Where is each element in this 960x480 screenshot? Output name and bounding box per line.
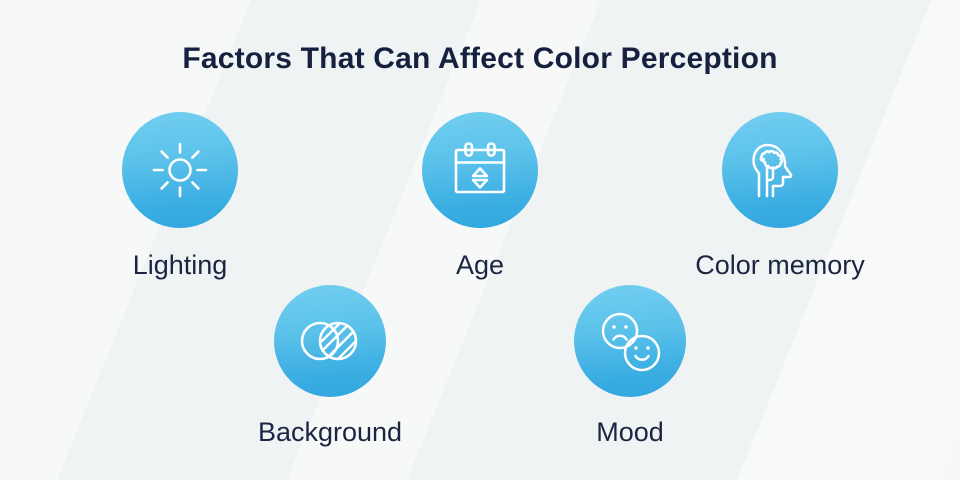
factor-label-background: Background: [258, 417, 402, 448]
factor-badge-lighting: [122, 112, 238, 228]
factor-badge-age: [422, 112, 538, 228]
factor-label-lighting: Lighting: [133, 250, 228, 281]
factor-item-age[interactable]: Age: [330, 112, 630, 281]
factor-item-color-memory[interactable]: Color memory: [630, 112, 930, 281]
factor-item-background[interactable]: Background: [180, 285, 480, 448]
head-brain-icon: [749, 139, 811, 201]
factor-badge-mood: [574, 285, 686, 397]
factor-label-mood: Mood: [596, 417, 664, 448]
factor-badge-color-memory: [722, 112, 838, 228]
factor-row-bottom: Background: [0, 285, 960, 448]
factor-label-age: Age: [456, 250, 504, 281]
factor-row-top: Lighting: [0, 112, 960, 281]
sun-icon: [150, 140, 210, 200]
calendar-stepper-icon: [449, 140, 511, 200]
factor-badge-background: [274, 285, 386, 397]
page-title: Factors That Can Affect Color Perception: [0, 42, 960, 76]
overlapping-circles-icon: [298, 315, 362, 367]
factor-label-color-memory: Color memory: [695, 250, 865, 281]
factor-item-mood[interactable]: Mood: [480, 285, 780, 448]
infographic-canvas: Factors That Can Affect Color Perception: [0, 0, 960, 480]
sad-happy-faces-icon: [599, 310, 661, 372]
factor-item-lighting[interactable]: Lighting: [30, 112, 330, 281]
